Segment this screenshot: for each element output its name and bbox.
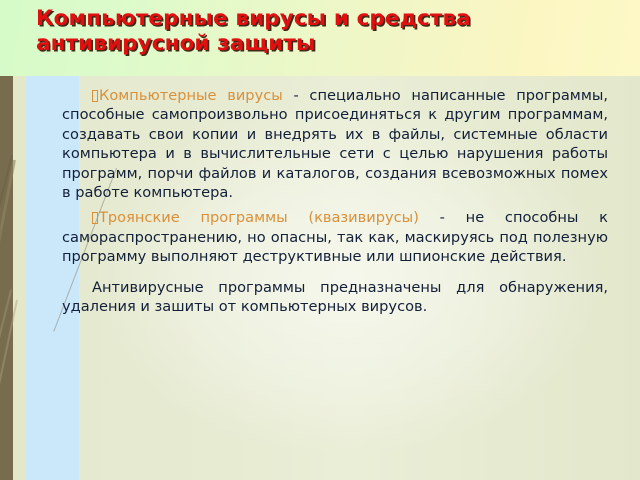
paragraph-body-text: - специально написанные программы, спосо… <box>62 87 608 201</box>
paragraph-highlight-term: Компьютерные вирусы <box>99 87 283 104</box>
presentation-slide: Компьютерные вирусы и средства антивирус… <box>0 0 640 480</box>
paragraph-highlight-term: Троянские программы (квазивирусы) <box>99 209 419 226</box>
bullet-paragraph: Троянские программы (квазивирусы) - не с… <box>62 208 608 266</box>
left-khaki-stripe <box>13 76 26 480</box>
slide-title: Компьютерные вирусы и средства антивирус… <box>36 6 606 56</box>
bullet-box-icon <box>92 90 98 102</box>
left-olive-stripe <box>0 76 13 480</box>
bullet-paragraph: Компьютерные вирусы - специально написан… <box>62 86 608 202</box>
bullet-box-icon <box>92 212 98 224</box>
plain-paragraph: Антивирусные программы предназначены для… <box>62 278 608 317</box>
slide-content: Компьютерные вирусы - специально написан… <box>62 86 608 316</box>
paragraph-body-text: Антивирусные программы предназначены для… <box>62 279 608 315</box>
